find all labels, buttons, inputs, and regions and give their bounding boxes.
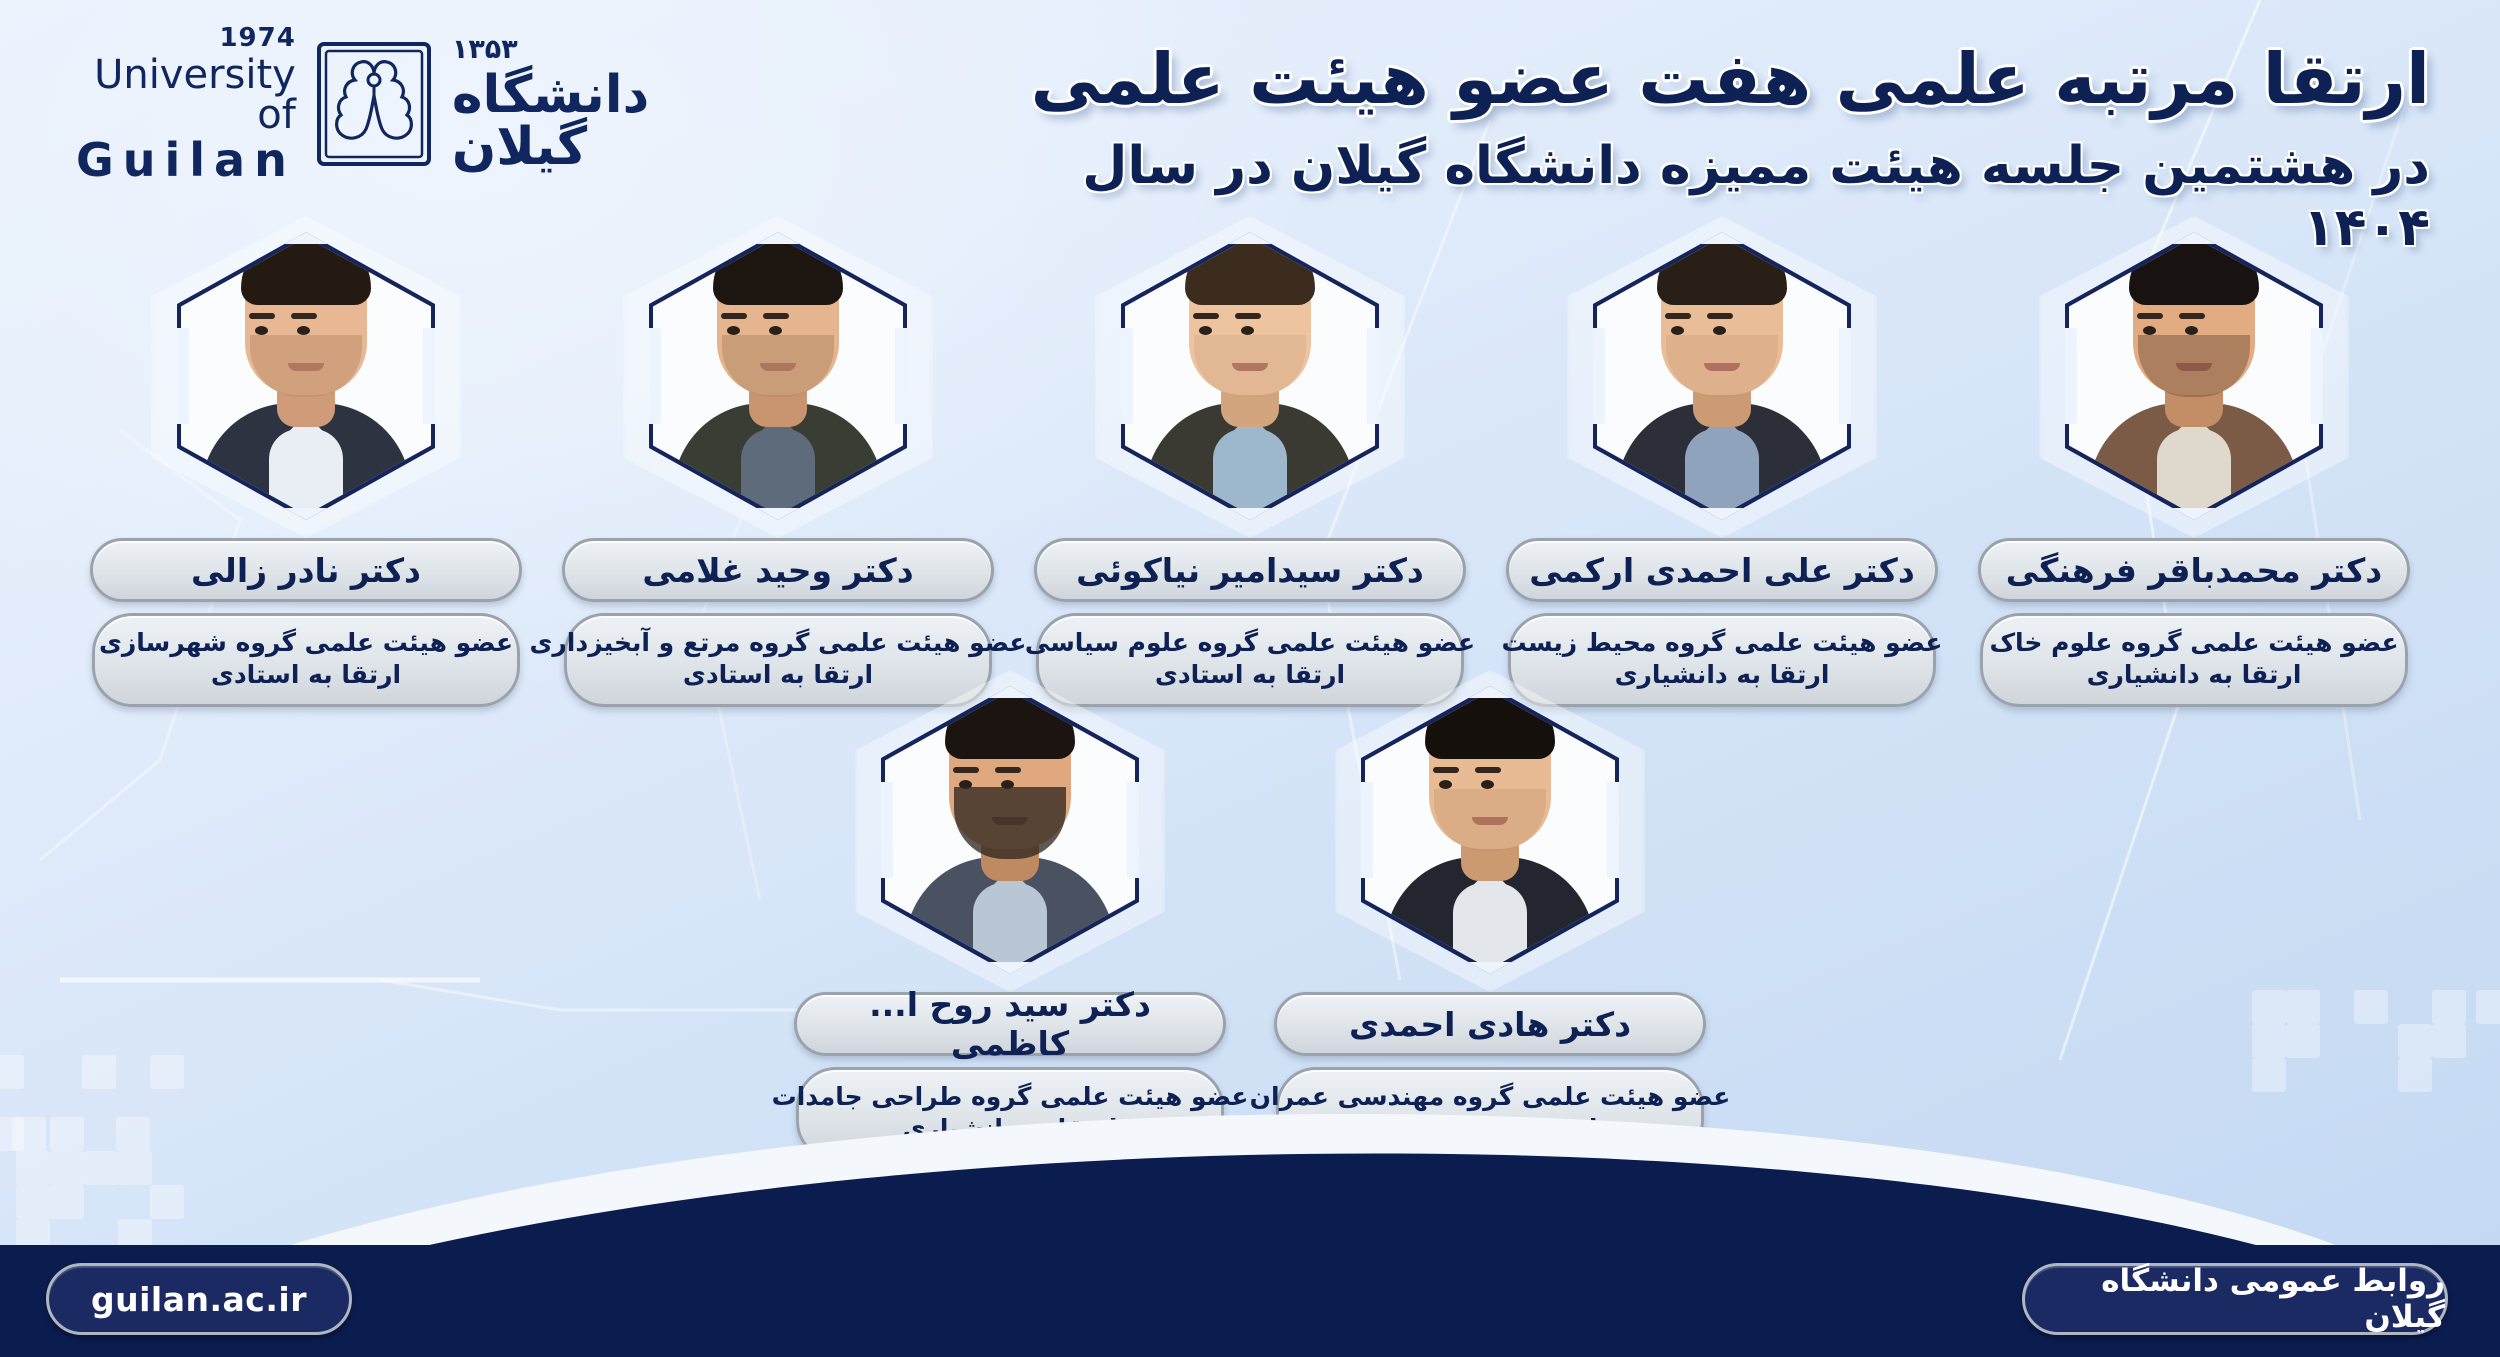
photo-hexagon: [647, 232, 909, 522]
person-name-plate: دکتر سید روح ا... کاظمی: [794, 992, 1226, 1056]
person-department: عضو هیئت علمی گروه طراحی جامدات: [772, 1081, 1249, 1113]
university-logo: 1974 University of Guilan ۱۳۵۳ دانشگاه گ…: [76, 34, 756, 174]
website-pill[interactable]: guilan.ac.ir: [46, 1263, 352, 1335]
person-department: عضو هیئت علمی گروه مرتع و آبخیزداری: [529, 627, 1026, 659]
photo-hexagon: [175, 232, 437, 522]
logo-persian-text: ۱۳۵۳ دانشگاه گیلان: [452, 36, 756, 173]
photo-hexagon: [1119, 232, 1381, 522]
person-card: دکتر علی احمدی ارکمی عضو هیئت علمی گروه …: [1523, 232, 1921, 707]
person-card: دکتر سید روح ا... کاظمی عضو هیئت علمی گر…: [811, 686, 1209, 1161]
person-name-plate: دکتر هادی احمدی: [1274, 992, 1706, 1056]
person-card: دکتر سیدامیر نیاکوئی عضو هیئت علمی گروه …: [1051, 232, 1449, 707]
person-name-plate: دکتر وحید غلامی: [562, 538, 994, 602]
page-title: ارتقا مرتبه علمی هفت عضو هیئت علمی: [1010, 38, 2430, 121]
logo-year-gregorian: 1974: [76, 25, 296, 51]
person-card: دکتر محمدباقر فرهنگی عضو هیئت علمی گروه …: [1995, 232, 2393, 707]
logo-guilan-word: Guilan: [76, 137, 296, 183]
people-row-bottom: دکتر سید روح ا... کاظمی عضو هیئت علمی گر…: [0, 686, 2500, 1161]
photo-hexagon: [2063, 232, 2325, 522]
person-name-plate: دکتر نادر زالی: [90, 538, 522, 602]
photo-hexagon: [1591, 232, 1853, 522]
person-name-plate: دکتر علی احمدی ارکمی: [1506, 538, 1938, 602]
poster-canvas: 1974 University of Guilan ۱۳۵۳ دانشگاه گ…: [0, 0, 2500, 1357]
person-department: عضو هیئت علمی گروه مهندسی عمران: [1250, 1081, 1731, 1113]
photo-hexagon: [1359, 686, 1621, 976]
person-department: عضو هیئت علمی گروه علوم خاک: [1989, 627, 2398, 659]
logo-university-persian: دانشگاه گیلان: [452, 69, 756, 173]
university-emblem-icon: [314, 40, 434, 168]
logo-english-text: 1974 University of Guilan: [76, 25, 296, 183]
logo-university-word: University of: [76, 55, 296, 135]
public-relations-pill: روابط عمومی دانشگاه گیلان: [2022, 1263, 2448, 1335]
people-row-top: دکتر نادر زالی عضو هیئت علمی گروه شهرساز…: [0, 232, 2500, 707]
person-card: دکتر هادی احمدی عضو هیئت علمی گروه مهندس…: [1291, 686, 1689, 1161]
photo-hexagon: [879, 686, 1141, 976]
person-card: دکتر وحید غلامی عضو هیئت علمی گروه مرتع …: [579, 232, 977, 707]
logo-year-persian: ۱۳۵۳: [452, 36, 756, 63]
person-department: عضو هیئت علمی گروه شهرسازی: [99, 627, 513, 659]
person-name-plate: دکتر محمدباقر فرهنگی: [1978, 538, 2410, 602]
person-department: عضو هیئت علمی گروه محیط زیست: [1502, 627, 1943, 659]
person-department: عضو هیئت علمی گروه علوم سیاسی: [1025, 627, 1475, 659]
person-name-plate: دکتر سیدامیر نیاکوئی: [1034, 538, 1466, 602]
person-card: دکتر نادر زالی عضو هیئت علمی گروه شهرساز…: [107, 232, 505, 707]
